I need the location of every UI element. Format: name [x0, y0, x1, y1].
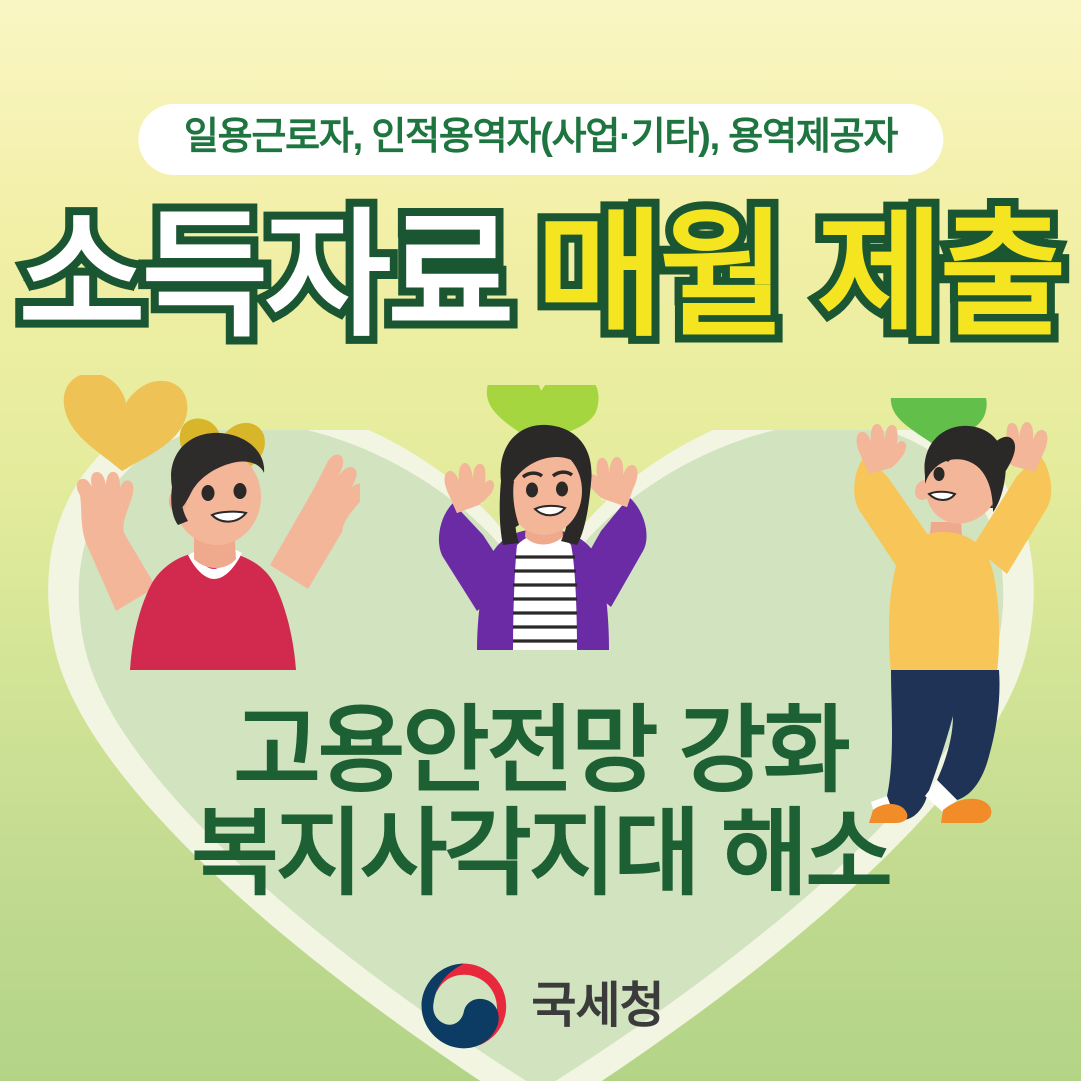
government-emblem-icon — [417, 960, 509, 1052]
agency-name: 국세청 — [531, 982, 663, 1031]
headline-part-1: 소득자료 — [18, 207, 510, 345]
message-line-2: 복지사각지대 해소 — [0, 803, 1081, 906]
badge-pill: 일용근로자, 인적용역자(사업·기타), 용역제공자 — [138, 104, 943, 175]
badge-text: 일용근로자, 인적용역자(사업·기타), 용역제공자 — [184, 118, 897, 158]
agency-logo: 국세청 — [417, 960, 663, 1052]
message-line-1: 고용안전망 강화 — [0, 700, 1081, 803]
headline-part-2: 매월 제출 — [536, 207, 1062, 345]
page-title: 소득자료매월 제출 — [0, 207, 1081, 345]
message-block: 고용안전망 강화 복지사각지대 해소 — [0, 700, 1081, 905]
poster-canvas: 일용근로자, 인적용역자(사업·기타), 용역제공자 소득자료매월 제출 고용안… — [0, 0, 1081, 1081]
